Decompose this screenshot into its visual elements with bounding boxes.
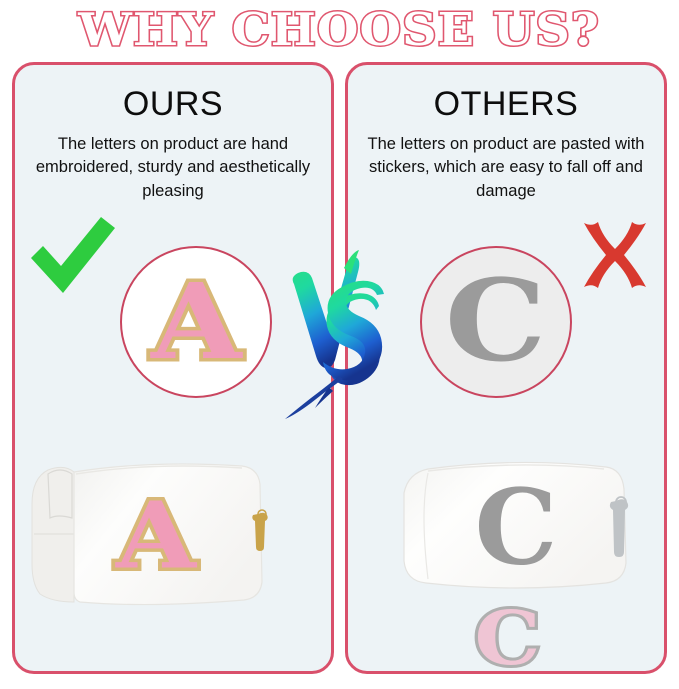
letter-c-glyph: C (445, 266, 547, 378)
patch-circle-ours: A (120, 246, 272, 398)
pouch-ours: A (30, 452, 282, 612)
cross-icon (578, 218, 652, 292)
chenille-letter-patch-a: A (142, 268, 250, 376)
vs-brush-graphic (281, 248, 399, 420)
panel-others-description: The letters on product are pasted with s… (362, 133, 650, 203)
page-title-bar: WHY CHOOSE US? (0, 0, 679, 58)
panel-ours-description: The letters on product are hand embroide… (29, 133, 317, 203)
letter-a-glyph: A (151, 270, 241, 374)
check-icon (28, 214, 118, 296)
pouch-others: C (398, 455, 638, 595)
panel-others-heading: OTHERS (348, 85, 664, 124)
fallen-chenille-patch-c: C (468, 598, 546, 680)
fallen-letter-c-glyph: C (474, 602, 540, 676)
pouch-others-letter: C (475, 466, 558, 589)
patch-circle-others: C (420, 246, 572, 398)
pouch-ours-letter: A (115, 482, 197, 590)
panel-ours-heading: OURS (15, 85, 331, 124)
page-title: WHY CHOOSE US? (79, 7, 601, 52)
